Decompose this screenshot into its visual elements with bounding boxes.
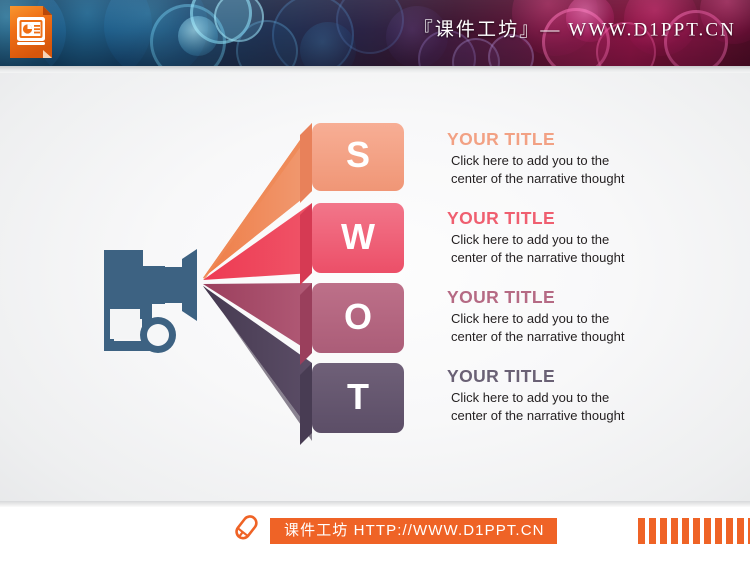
swot-title-w: YOUR TITLE xyxy=(447,209,717,227)
swot-text-item-w: YOUR TITLE Click here to add you to the … xyxy=(447,209,717,267)
pencil-icon xyxy=(228,512,262,548)
swot-title-t: YOUR TITLE xyxy=(447,367,717,385)
block-letter-w: W xyxy=(341,216,375,257)
header-banner: 『课件工坊』— WWW.D1PPT.CN xyxy=(0,0,750,66)
footer-url-bar[interactable]: 课件工坊 HTTP://WWW.D1PPT.CN xyxy=(270,518,557,544)
projector-wheel-hub xyxy=(147,324,169,346)
footer-stripe xyxy=(660,518,667,544)
block-w-side xyxy=(300,203,312,285)
swot-body-w: Click here to add you to the center of t… xyxy=(447,231,717,267)
swot-text-item-s: YOUR TITLE Click here to add you to the … xyxy=(447,130,717,188)
swot-title-o: YOUR TITLE xyxy=(447,288,717,306)
header-title: 『课件工坊』— WWW.D1PPT.CN xyxy=(414,15,736,42)
swot-body-o: Click here to add you to the center of t… xyxy=(447,310,717,346)
swot-body-s: Click here to add you to the center of t… xyxy=(447,152,717,188)
footer-stripe xyxy=(671,518,678,544)
block-o-side xyxy=(300,283,312,365)
swot-text-item-t: YOUR TITLE Click here to add you to the … xyxy=(447,367,717,425)
swot-body-t: Click here to add you to the center of t… xyxy=(447,389,717,425)
footer-stripe-decoration xyxy=(638,518,750,544)
header-divider-strip xyxy=(0,66,750,73)
projector-window xyxy=(110,309,140,339)
swot-title-s: YOUR TITLE xyxy=(447,130,717,148)
slide-canvas: 『课件工坊』— WWW.D1PPT.CN xyxy=(0,0,750,563)
footer-stripe xyxy=(726,518,733,544)
footer-stripe xyxy=(737,518,744,544)
block-t-side xyxy=(300,363,312,445)
slide-body: S W O T xyxy=(0,73,750,501)
block-letter-s: S xyxy=(346,134,370,175)
footer-divider-strip xyxy=(0,501,750,507)
swot-text-item-o: YOUR TITLE Click here to add you to the … xyxy=(447,288,717,346)
footer-stripe xyxy=(693,518,700,544)
footer-stripe xyxy=(704,518,711,544)
powerpoint-file-icon xyxy=(7,4,55,61)
footer-stripe xyxy=(638,518,645,544)
block-letter-o: O xyxy=(344,296,372,337)
block-letter-t: T xyxy=(347,376,369,417)
footer-stripe xyxy=(649,518,656,544)
footer-stripe xyxy=(682,518,689,544)
footer-stripe xyxy=(715,518,722,544)
block-s-side xyxy=(300,123,312,203)
